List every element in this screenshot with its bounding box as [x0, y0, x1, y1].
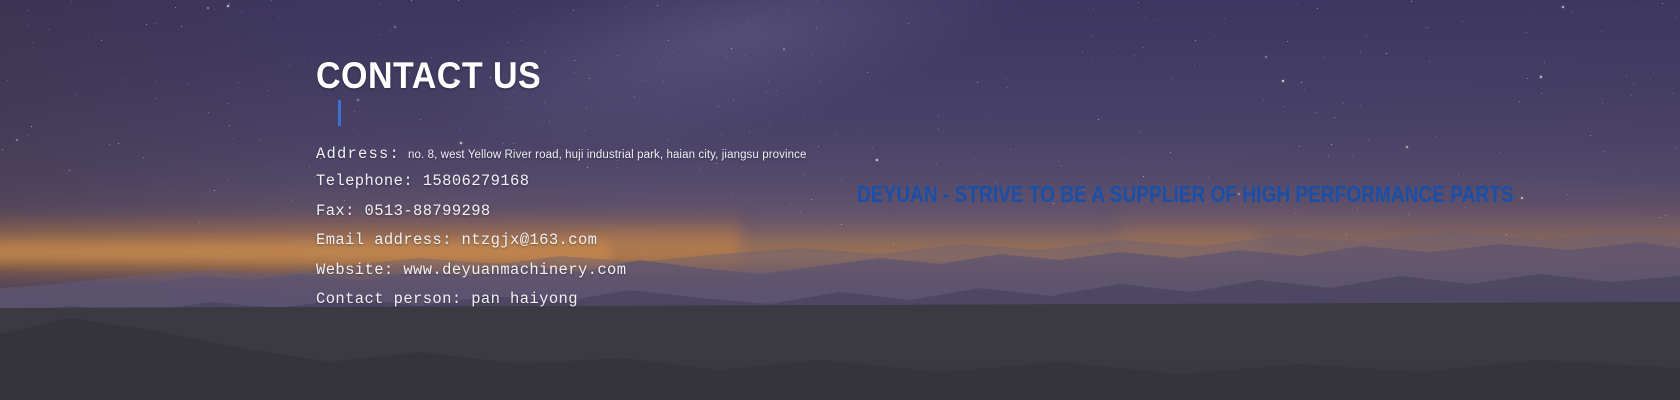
contact-row-website[interactable]: Website: www.deyuanmachinery.com [316, 256, 936, 286]
contact-row-contact-person: Contact person: pan haiyong [316, 285, 936, 315]
contact-details-list: Address:no. 8, west Yellow River road, h… [316, 142, 936, 315]
address-label: Address: [316, 145, 400, 163]
contact-us-banner: CONTACT US Address:no. 8, west Yellow Ri… [0, 0, 1680, 400]
address-value: no. 8, west Yellow River road, huji indu… [408, 149, 806, 161]
contact-row-email[interactable]: Email address: ntzgjx@163.com [316, 226, 936, 256]
contact-row-address: Address:no. 8, west Yellow River road, h… [316, 142, 936, 167]
page-title: CONTACT US [316, 57, 541, 94]
contact-row-telephone: Telephone: 15806279168 [316, 167, 936, 197]
contact-row-fax: Fax: 0513-88799298 [316, 197, 936, 227]
company-tagline: DEYUAN - STRIVE TO BE A SUPPLIER OF HIGH… [857, 183, 1514, 206]
title-accent-bar [338, 100, 341, 126]
banner-content: CONTACT US Address:no. 8, west Yellow Ri… [0, 0, 1680, 400]
